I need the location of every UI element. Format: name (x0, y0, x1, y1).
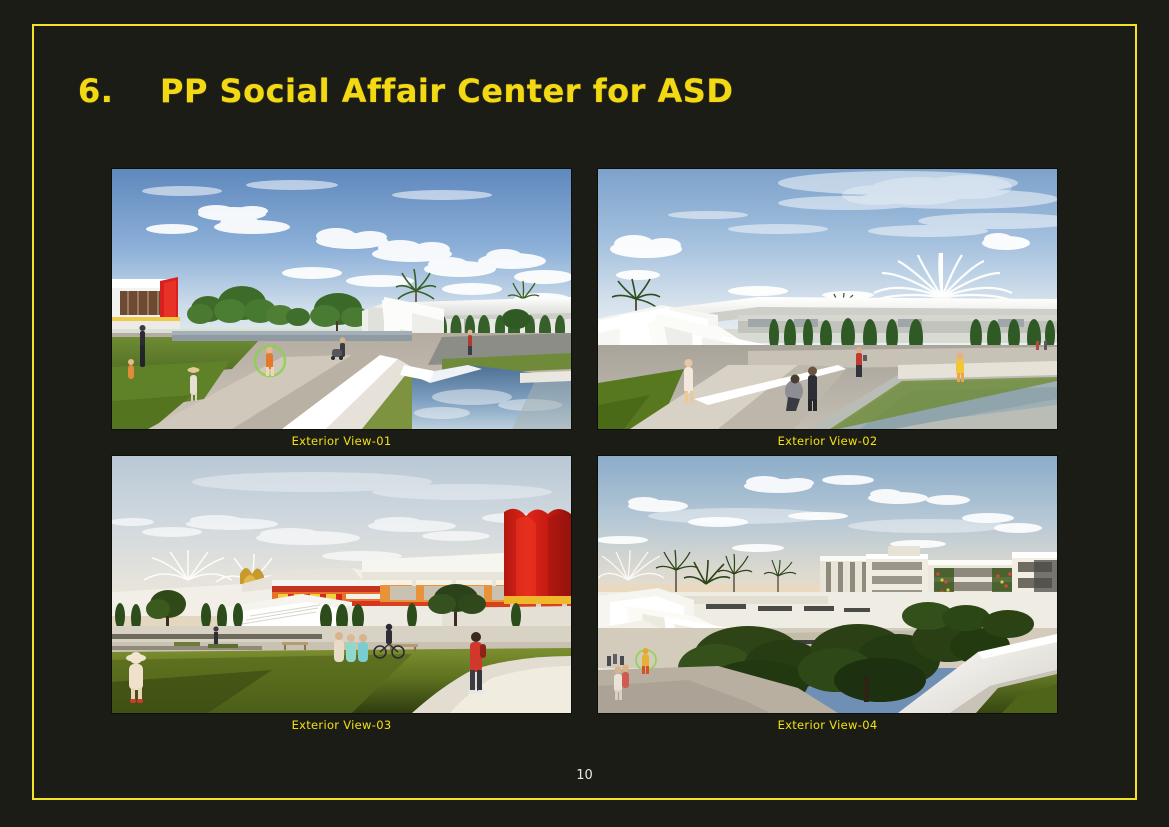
caption-exterior-view-03: Exterior View-03 (112, 718, 571, 732)
page-number: 10 (0, 768, 1169, 783)
caption-exterior-view-04: Exterior View-04 (598, 718, 1057, 732)
presentation-slide: 6. PP Social Affair Center for ASD (0, 0, 1169, 827)
caption-exterior-view-01: Exterior View-01 (112, 434, 571, 448)
caption-exterior-view-02: Exterior View-02 (598, 434, 1057, 448)
image-gallery-grid: Exterior View-01 (0, 0, 1169, 827)
render-image-exterior-view-02[interactable] (598, 169, 1057, 429)
render-image-exterior-view-01[interactable] (112, 169, 571, 429)
render-image-exterior-view-03[interactable] (112, 456, 571, 713)
render-image-exterior-view-04[interactable] (598, 456, 1057, 713)
